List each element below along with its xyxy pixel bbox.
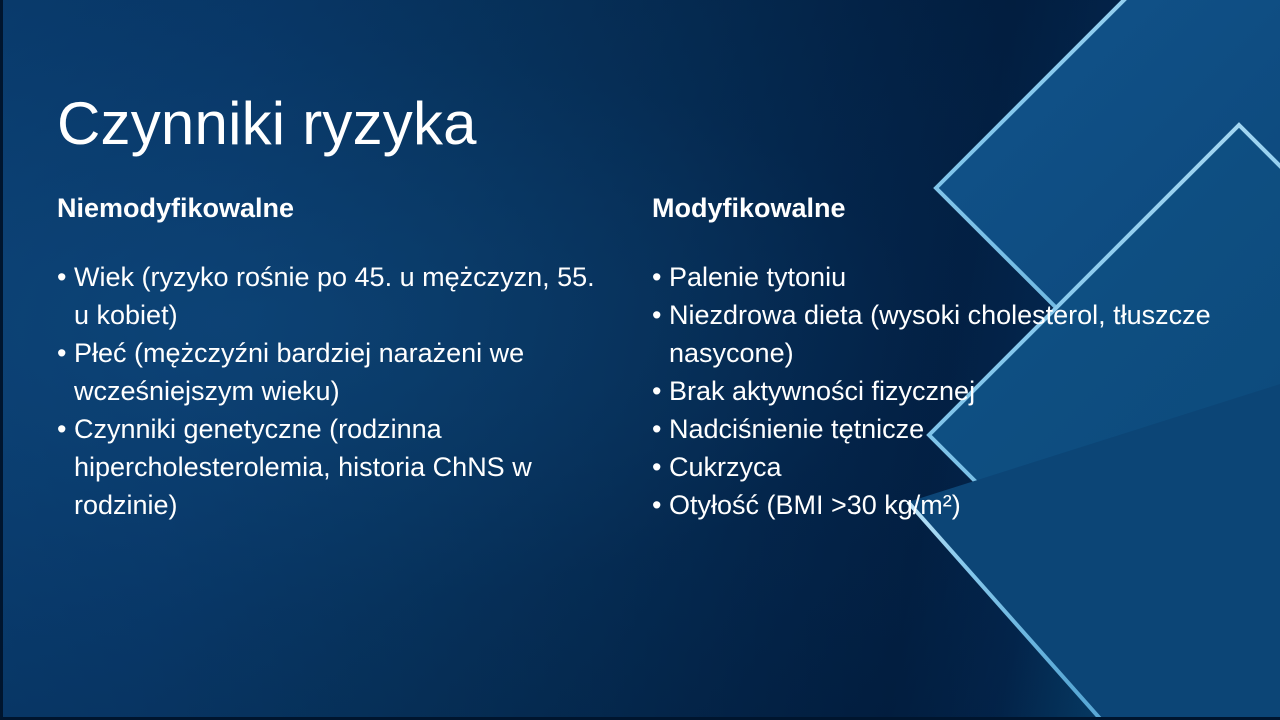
bullet-list-modifiable: Palenie tytoniu Niezdrowa dieta (wysoki … <box>652 258 1212 524</box>
list-item: Cukrzyca <box>652 448 1212 486</box>
list-item: Czynniki genetyczne (rodzinna hiperchole… <box>57 410 617 524</box>
column-heading-non-modifiable: Niemodyfikowalne <box>57 192 617 224</box>
column-heading-modifiable: Modyfikowalne <box>652 192 1212 224</box>
column-non-modifiable: Niemodyfikowalne Wiek (ryzyko rośnie po … <box>57 192 617 524</box>
bullet-list-non-modifiable: Wiek (ryzyko rośnie po 45. u mężczyzn, 5… <box>57 258 617 524</box>
column-modifiable: Modyfikowalne Palenie tytoniu Niezdrowa … <box>652 192 1212 524</box>
slide-content: Czynniki ryzyka Niemodyfikowalne Wiek (r… <box>3 0 1280 717</box>
page-title: Czynniki ryzyka <box>57 92 477 155</box>
list-item: Niezdrowa dieta (wysoki cholesterol, tłu… <box>652 296 1212 372</box>
list-item: Płeć (mężczyźni bardziej narażeni we wcz… <box>57 334 617 410</box>
list-item: Palenie tytoniu <box>652 258 1212 296</box>
list-item: Otyłość (BMI >30 kg/m²) <box>652 486 1212 524</box>
list-item: Brak aktywności fizycznej <box>652 372 1212 410</box>
presentation-slide: Czynniki ryzyka Niemodyfikowalne Wiek (r… <box>0 0 1280 720</box>
list-item: Nadciśnienie tętnicze <box>652 410 1212 448</box>
list-item: Wiek (ryzyko rośnie po 45. u mężczyzn, 5… <box>57 258 617 334</box>
